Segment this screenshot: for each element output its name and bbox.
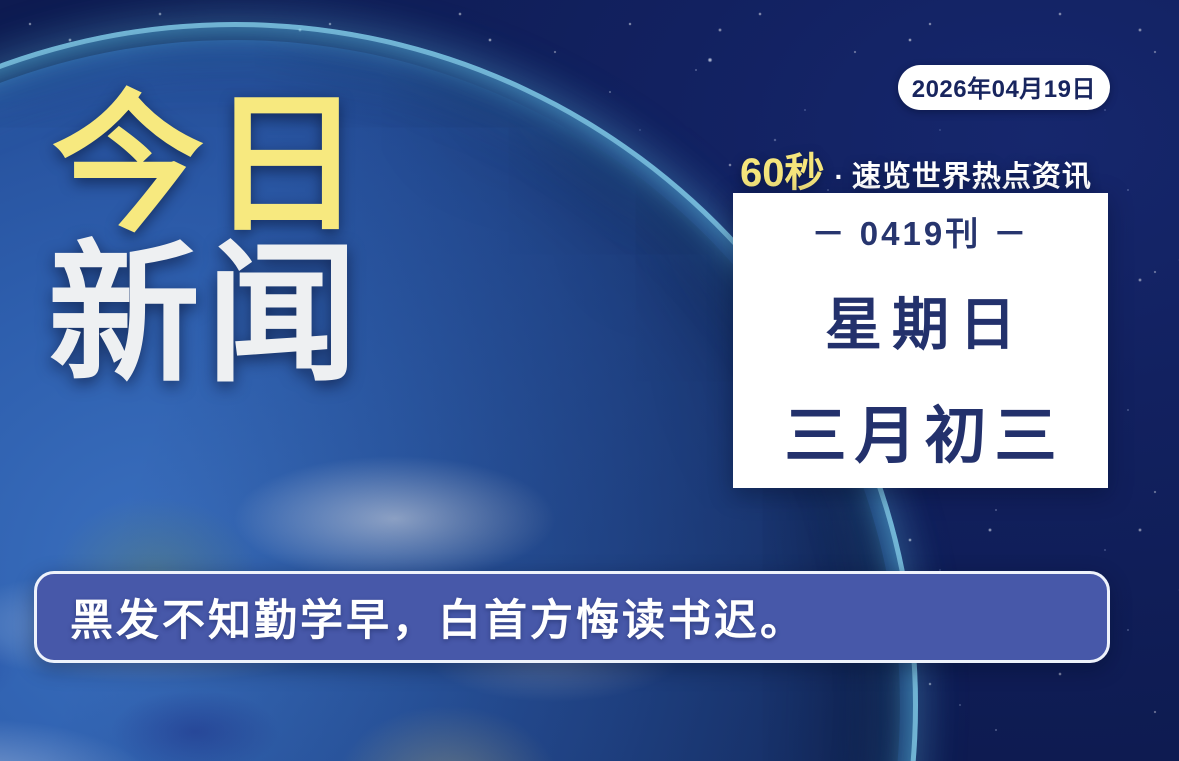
quote-banner: 黑发不知勤学早，白首方悔读书迟。 — [34, 571, 1110, 663]
page-title: 今日 新闻 — [52, 96, 368, 386]
quote-text: 黑发不知勤学早，白首方悔读书迟。 — [70, 586, 806, 648]
issue-info-card: － 0419刊 － 星期日 三月初三 — [733, 193, 1108, 488]
tagline-seconds: 60秒 — [740, 140, 825, 198]
issue-number: － 0419刊 － — [812, 207, 1030, 255]
weekday-label: 星期日 — [825, 279, 1026, 361]
tagline-text: 速览世界热点资讯 — [852, 153, 1092, 195]
headline-line-1: 今日 — [52, 96, 368, 236]
headline-line-2: 新闻 — [48, 246, 368, 386]
date-badge: 2026年04月19日 — [898, 65, 1110, 110]
news-poster: 今日 新闻 2026年04月19日 60秒 · 速览世界热点资讯 － 0419刊… — [0, 0, 1179, 761]
lunar-date-label: 三月初三 — [784, 385, 1064, 475]
tagline: 60秒 · 速览世界热点资讯 — [740, 140, 1092, 198]
tagline-separator-dot: · — [835, 161, 844, 193]
